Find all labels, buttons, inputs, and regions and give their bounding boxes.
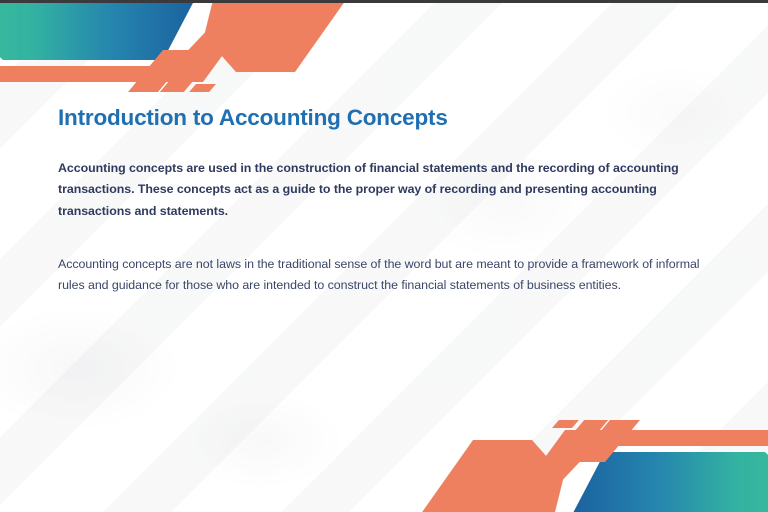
page-title: Introduction to Accounting Concepts (58, 104, 712, 132)
bottom-right-corner-graphic (388, 420, 768, 512)
orange-hexagon-shape (408, 440, 564, 512)
top-rule-divider (0, 0, 768, 3)
slide-canvas: Introduction to Accounting Concepts Acco… (0, 0, 768, 512)
body-paragraph: Accounting concepts are not laws in the … (58, 254, 708, 297)
orange-hexagon-shape (204, 0, 360, 72)
top-left-corner-graphic (0, 0, 380, 92)
slide-content: Introduction to Accounting Concepts Acco… (58, 104, 712, 297)
lead-paragraph: Accounting concepts are used in the cons… (58, 158, 706, 222)
